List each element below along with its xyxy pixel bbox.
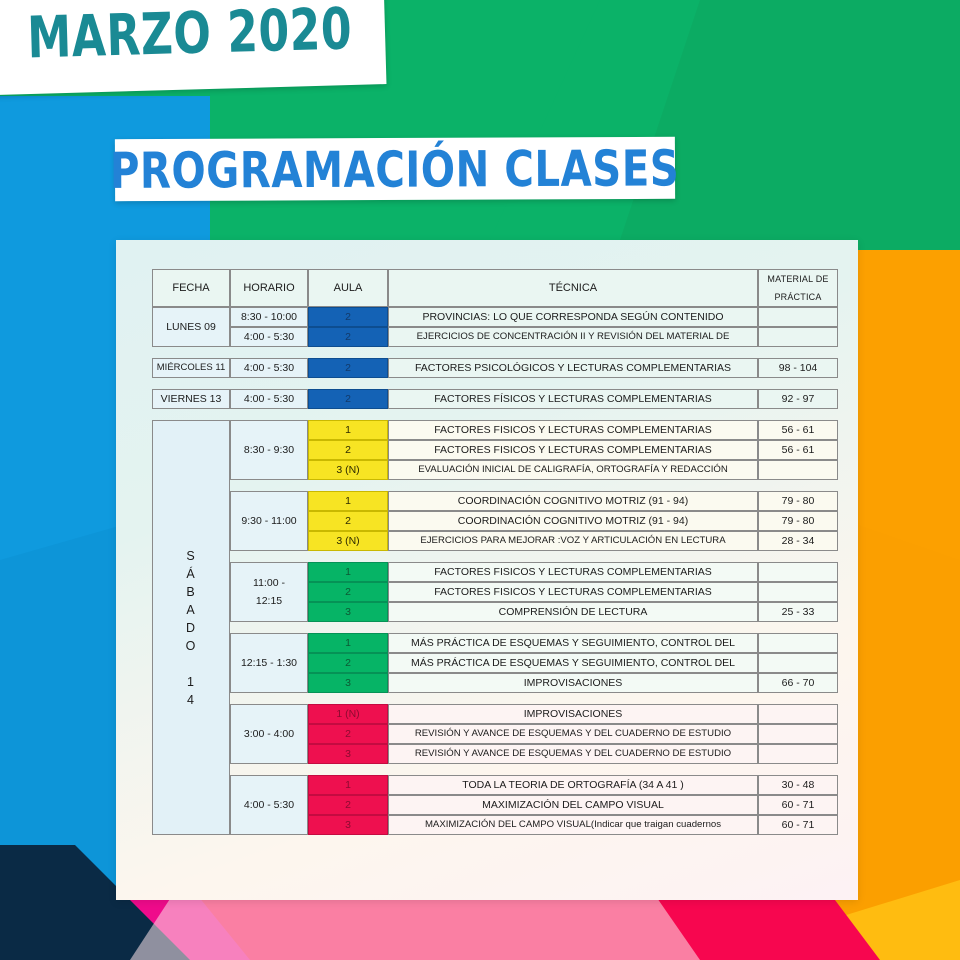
spacer-cell [758, 378, 838, 389]
cell-tecnica: FACTORES FISICOS Y LECTURAS COMPLEMENTAR… [388, 440, 758, 460]
cell-aula: 2 [308, 307, 388, 327]
horario-line: 12:15 [231, 592, 307, 610]
spacer-cell [230, 764, 308, 775]
spacer-cell [308, 622, 388, 633]
month-banner: MARZO 2020 [0, 0, 386, 96]
horario-line: 11:00 - [231, 574, 307, 592]
table-row: MIÉRCOLES 114:00 - 5:302FACTORES PSICOLÓ… [152, 358, 838, 378]
cell-fecha: MIÉRCOLES 11 [152, 358, 230, 378]
sabado-char [153, 655, 229, 673]
sabado-char: 1 [153, 673, 229, 691]
cell-tecnica: IMPROVISACIONES [388, 673, 758, 693]
cell-fecha-sabado: SÁBADO 14 [152, 420, 230, 835]
spacer-cell [758, 764, 838, 775]
col-header-fecha: FECHA [152, 269, 230, 307]
spacer-cell [230, 347, 308, 358]
row-spacer [152, 693, 838, 704]
spacer-cell [308, 551, 388, 562]
cell-tecnica: FACTORES FISICOS Y LECTURAS COMPLEMENTAR… [388, 420, 758, 440]
spacer-cell [388, 551, 758, 562]
spacer-cell [758, 347, 838, 358]
spacer-cell [230, 409, 308, 420]
row-spacer [152, 764, 838, 775]
spacer-cell [758, 622, 838, 633]
col-header-tecnica: TÉCNICA [388, 269, 758, 307]
cell-horario: 4:00 - 5:30 [230, 358, 308, 378]
col-header-horario: HORARIO [230, 269, 308, 307]
cell-aula: 2 [308, 327, 388, 347]
row-spacer [152, 378, 838, 389]
cell-aula: 2 [308, 440, 388, 460]
cell-material: 28 - 34 [758, 531, 838, 551]
cell-tecnica: COORDINACIÓN COGNITIVO MOTRIZ (91 - 94) [388, 491, 758, 511]
col-header-material-line2: PRÁCTICA [774, 292, 821, 302]
col-header-aula: AULA [308, 269, 388, 307]
sabado-char: D [153, 619, 229, 637]
cell-material [758, 724, 838, 744]
spacer-cell [308, 409, 388, 420]
cell-material [758, 633, 838, 653]
cell-horario: 12:15 - 1:30 [230, 633, 308, 693]
table-row: 3:00 - 4:001 (N)IMPROVISACIONES [152, 704, 838, 724]
row-spacer [152, 347, 838, 358]
row-spacer [152, 622, 838, 633]
cell-tecnica: FACTORES FÍSICOS Y LECTURAS COMPLEMENTAR… [388, 389, 758, 409]
cell-material: 92 - 97 [758, 389, 838, 409]
cell-material [758, 460, 838, 480]
sabado-char: O [153, 637, 229, 655]
cell-aula: 1 [308, 633, 388, 653]
sabado-char: A [153, 601, 229, 619]
cell-aula: 3 [308, 744, 388, 764]
cell-material: 66 - 70 [758, 673, 838, 693]
spacer-cell [388, 622, 758, 633]
schedule-table: FECHA HORARIO AULA TÉCNICA MATERIAL DE P… [152, 269, 838, 835]
schedule-table-wrap: FECHA HORARIO AULA TÉCNICA MATERIAL DE P… [152, 269, 830, 835]
cell-material [758, 327, 838, 347]
cell-aula: 2 [308, 358, 388, 378]
spacer-cell [758, 693, 838, 704]
spacer-cell [230, 551, 308, 562]
spacer-cell [230, 480, 308, 491]
spacer-cell [308, 764, 388, 775]
cell-horario: 9:30 - 11:00 [230, 491, 308, 551]
spacer-cell [230, 622, 308, 633]
cell-material [758, 582, 838, 602]
spacer-cell [388, 693, 758, 704]
table-row: 12:15 - 1:301MÁS PRÁCTICA DE ESQUEMAS Y … [152, 633, 838, 653]
cell-material [758, 307, 838, 327]
cell-material [758, 562, 838, 582]
cell-aula: 3 (N) [308, 531, 388, 551]
spacer-cell [230, 378, 308, 389]
spacer-cell [758, 480, 838, 491]
spacer-cell [758, 551, 838, 562]
cell-tecnica: FACTORES FISICOS Y LECTURAS COMPLEMENTAR… [388, 582, 758, 602]
cell-tecnica: COMPRENSIÓN DE LECTURA [388, 602, 758, 622]
cell-aula: 3 [308, 815, 388, 835]
cell-aula: 1 [308, 491, 388, 511]
cell-tecnica: COORDINACIÓN COGNITIVO MOTRIZ (91 - 94) [388, 511, 758, 531]
cell-aula: 2 [308, 795, 388, 815]
cell-tecnica: FACTORES PSICOLÓGICOS Y LECTURAS COMPLEM… [388, 358, 758, 378]
cell-tecnica: IMPROVISACIONES [388, 704, 758, 724]
cell-material: 79 - 80 [758, 511, 838, 531]
cell-material [758, 653, 838, 673]
spacer-cell [308, 347, 388, 358]
cell-aula: 2 [308, 389, 388, 409]
cell-aula: 1 (N) [308, 704, 388, 724]
table-row: 9:30 - 11:001COORDINACIÓN COGNITIVO MOTR… [152, 491, 838, 511]
cell-aula: 3 (N) [308, 460, 388, 480]
cell-tecnica: EJERCICIOS PARA MEJORAR :VOZ Y ARTICULAC… [388, 531, 758, 551]
cell-horario: 4:00 - 5:30 [230, 389, 308, 409]
spacer-cell [152, 378, 230, 389]
cell-aula: 1 [308, 562, 388, 582]
cell-horario: 4:00 - 5:30 [230, 327, 308, 347]
cell-fecha: LUNES 09 [152, 307, 230, 347]
spacer-cell [388, 347, 758, 358]
cell-horario: 11:00 -12:15 [230, 562, 308, 622]
table-body: LUNES 098:30 - 10:002PROVINCIAS: LO QUE … [152, 307, 838, 835]
cell-material: 30 - 48 [758, 775, 838, 795]
cell-horario: 4:00 - 5:30 [230, 775, 308, 835]
cell-aula: 3 [308, 673, 388, 693]
title-banner-text: PROGRAMACIÓN CLASES [110, 139, 680, 199]
spacer-cell [758, 409, 838, 420]
cell-horario: 3:00 - 4:00 [230, 704, 308, 764]
cell-tecnica: REVISIÓN Y AVANCE DE ESQUEMAS Y DEL CUAD… [388, 744, 758, 764]
cell-tecnica: FACTORES FISICOS Y LECTURAS COMPLEMENTAR… [388, 562, 758, 582]
cell-tecnica: EVALUACIÓN INICIAL DE CALIGRAFÍA, ORTOGR… [388, 460, 758, 480]
cell-tecnica: EJERCICIOS DE CONCENTRACIÓN II Y REVISIÓ… [388, 327, 758, 347]
cell-aula: 1 [308, 775, 388, 795]
table-row: 4:00 - 5:301TODA LA TEORIA DE ORTOGRAFÍA… [152, 775, 838, 795]
cell-tecnica: REVISIÓN Y AVANCE DE ESQUEMAS Y DEL CUAD… [388, 724, 758, 744]
cell-tecnica: MAXIMIZACIÓN DEL CAMPO VISUAL(Indicar qu… [388, 815, 758, 835]
spacer-cell [308, 693, 388, 704]
cell-tecnica: MAXIMIZACIÓN DEL CAMPO VISUAL [388, 795, 758, 815]
table-row: VIERNES 134:00 - 5:302FACTORES FÍSICOS Y… [152, 389, 838, 409]
spacer-cell [388, 480, 758, 491]
sabado-char: S [153, 547, 229, 565]
spacer-cell [308, 480, 388, 491]
schedule-sheet: FECHA HORARIO AULA TÉCNICA MATERIAL DE P… [116, 240, 858, 900]
cell-material: 60 - 71 [758, 795, 838, 815]
cell-horario: 8:30 - 10:00 [230, 307, 308, 327]
month-banner-text: MARZO 2020 [0, 0, 353, 73]
header-row: FECHA HORARIO AULA TÉCNICA MATERIAL DE P… [152, 269, 838, 307]
cell-tecnica: PROVINCIAS: LO QUE CORRESPONDA SEGÚN CON… [388, 307, 758, 327]
spacer-cell [152, 347, 230, 358]
cell-aula: 2 [308, 511, 388, 531]
spacer-cell [388, 378, 758, 389]
sabado-char: 4 [153, 691, 229, 709]
cell-material [758, 704, 838, 724]
cell-material: 60 - 71 [758, 815, 838, 835]
col-header-material: MATERIAL DE PRÁCTICA [758, 269, 838, 307]
col-header-material-line1: MATERIAL DE [767, 274, 828, 284]
cell-material: 98 - 104 [758, 358, 838, 378]
table-row: 11:00 -12:151FACTORES FISICOS Y LECTURAS… [152, 562, 838, 582]
cell-material [758, 744, 838, 764]
cell-material: 56 - 61 [758, 440, 838, 460]
spacer-cell [308, 378, 388, 389]
spacer-cell [388, 764, 758, 775]
spacer-cell [230, 693, 308, 704]
table-row: 4:00 - 5:302EJERCICIOS DE CONCENTRACIÓN … [152, 327, 838, 347]
title-banner: PROGRAMACIÓN CLASES [115, 137, 675, 201]
table-row: SÁBADO 148:30 - 9:301FACTORES FISICOS Y … [152, 420, 838, 440]
spacer-cell [388, 409, 758, 420]
cell-aula: 2 [308, 724, 388, 744]
cell-tecnica: MÁS PRÁCTICA DE ESQUEMAS Y SEGUIMIENTO, … [388, 653, 758, 673]
row-spacer [152, 480, 838, 491]
table-header: FECHA HORARIO AULA TÉCNICA MATERIAL DE P… [152, 269, 838, 307]
cell-tecnica: TODA LA TEORIA DE ORTOGRAFÍA (34 A 41 ) [388, 775, 758, 795]
table-row: LUNES 098:30 - 10:002PROVINCIAS: LO QUE … [152, 307, 838, 327]
cell-material: 25 - 33 [758, 602, 838, 622]
cell-material: 79 - 80 [758, 491, 838, 511]
row-spacer [152, 551, 838, 562]
spacer-cell [152, 409, 230, 420]
cell-fecha: VIERNES 13 [152, 389, 230, 409]
cell-aula: 2 [308, 653, 388, 673]
cell-aula: 2 [308, 582, 388, 602]
cell-horario: 8:30 - 9:30 [230, 420, 308, 480]
sabado-char: Á [153, 565, 229, 583]
row-spacer [152, 409, 838, 420]
cell-material: 56 - 61 [758, 420, 838, 440]
cell-aula: 1 [308, 420, 388, 440]
cell-tecnica: MÁS PRÁCTICA DE ESQUEMAS Y SEGUIMIENTO, … [388, 633, 758, 653]
sabado-char: B [153, 583, 229, 601]
cell-aula: 3 [308, 602, 388, 622]
